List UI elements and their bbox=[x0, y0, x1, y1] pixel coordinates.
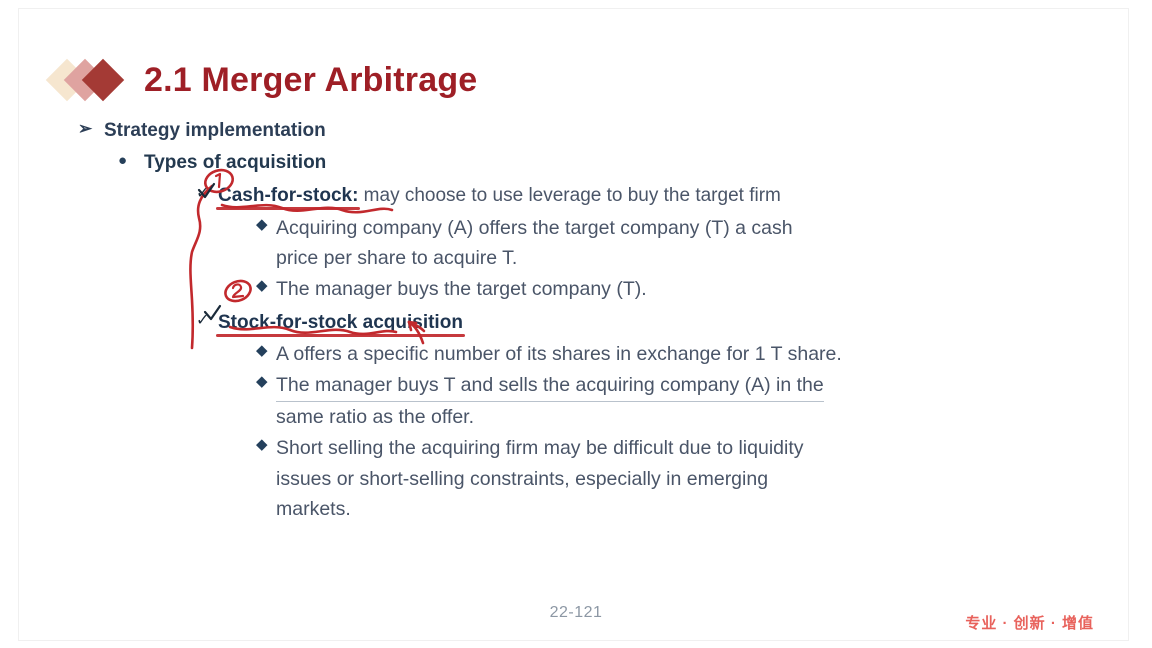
outline-subitem: ◆ Acquiring company (A) offers the targe… bbox=[0, 214, 1152, 244]
outline-subitem-line: same ratio as the offer. bbox=[276, 403, 474, 433]
outline-subitem-continuation: price per share to acquire T. bbox=[0, 244, 1152, 274]
outline-subitem-line: markets. bbox=[276, 495, 351, 525]
page-title: 2.1 Merger Arbitrage bbox=[144, 61, 477, 100]
slide-title-block: 2.1 Merger Arbitrage bbox=[52, 52, 477, 108]
outline-subitem: ◆ The manager buys the target company (T… bbox=[0, 275, 1152, 305]
outline-subitem: ◆ A offers a specific number of its shar… bbox=[0, 340, 1152, 370]
outline-item-heading-text: Cash-for-stock: may choose to use levera… bbox=[218, 182, 781, 210]
diamond-bullet-icon: ◆ bbox=[256, 214, 276, 237]
outline-item-heading-text: Stock-for-stock acquisition bbox=[218, 309, 463, 337]
disc-bullet-icon: ● bbox=[118, 150, 144, 171]
check-mark-icon: ✓ bbox=[196, 182, 218, 205]
diamond-bullet-icon: ◆ bbox=[256, 434, 276, 457]
outline-item-heading: ✓ Stock-for-stock acquisition bbox=[0, 309, 1152, 337]
arrow-bullet-icon: ➢ bbox=[78, 118, 104, 141]
outline-subitem-line: The manager buys T and sells the acquiri… bbox=[276, 371, 824, 403]
outline-subitem: ◆ Short selling the acquiring firm may b… bbox=[0, 434, 1152, 464]
item-rest-label: may choose to use leverage to buy the ta… bbox=[358, 185, 780, 206]
slide-canvas: 2.1 Merger Arbitrage ➢ Strategy implemen… bbox=[0, 0, 1152, 648]
outline-subitem-continuation: same ratio as the offer. bbox=[0, 403, 1152, 433]
outline-subitem-line: The manager buys the target company (T). bbox=[276, 275, 647, 305]
outline-level2: ● Types of acquisition bbox=[0, 150, 1152, 177]
check-mark-icon: ✓ bbox=[196, 309, 218, 332]
item-lead-label: Cash-for-stock: bbox=[218, 185, 358, 206]
outline-subitem-continuation: markets. bbox=[0, 495, 1152, 525]
slide-border-top bbox=[18, 8, 1129, 9]
outline-subitem-line: A offers a specific number of its shares… bbox=[276, 340, 842, 370]
diamond-bullet-icon: ◆ bbox=[256, 340, 276, 363]
diamond-bullet-icon: ◆ bbox=[256, 371, 276, 394]
outline-subitem-continuation: issues or short-selling constraints, esp… bbox=[0, 465, 1152, 495]
outline-subitem-line: Short selling the acquiring firm may be … bbox=[276, 434, 804, 464]
outline-subitem-line: Acquiring company (A) offers the target … bbox=[276, 214, 793, 244]
diamond-decoration bbox=[52, 58, 138, 102]
item-lead-label: Stock-for-stock acquisition bbox=[218, 312, 463, 333]
outline-level2-label: Types of acquisition bbox=[144, 150, 326, 177]
outline-subitem-line: issues or short-selling constraints, esp… bbox=[276, 465, 768, 495]
diamond-bullet-icon: ◆ bbox=[256, 275, 276, 298]
outline-subitem: ◆ The manager buys T and sells the acqui… bbox=[0, 371, 1152, 403]
slide-body: ➢ Strategy implementation ● Types of acq… bbox=[0, 118, 1152, 526]
footer-slogan: 专业 · 创新 · 增值 bbox=[965, 612, 1094, 633]
outline-level1: ➢ Strategy implementation bbox=[0, 118, 1152, 144]
outline-subitem-line: price per share to acquire T. bbox=[276, 244, 517, 274]
outline-level1-label: Strategy implementation bbox=[104, 118, 326, 144]
outline-item-heading: ✓ Cash-for-stock: may choose to use leve… bbox=[0, 182, 1152, 210]
slide-border-bottom bbox=[18, 640, 1129, 641]
